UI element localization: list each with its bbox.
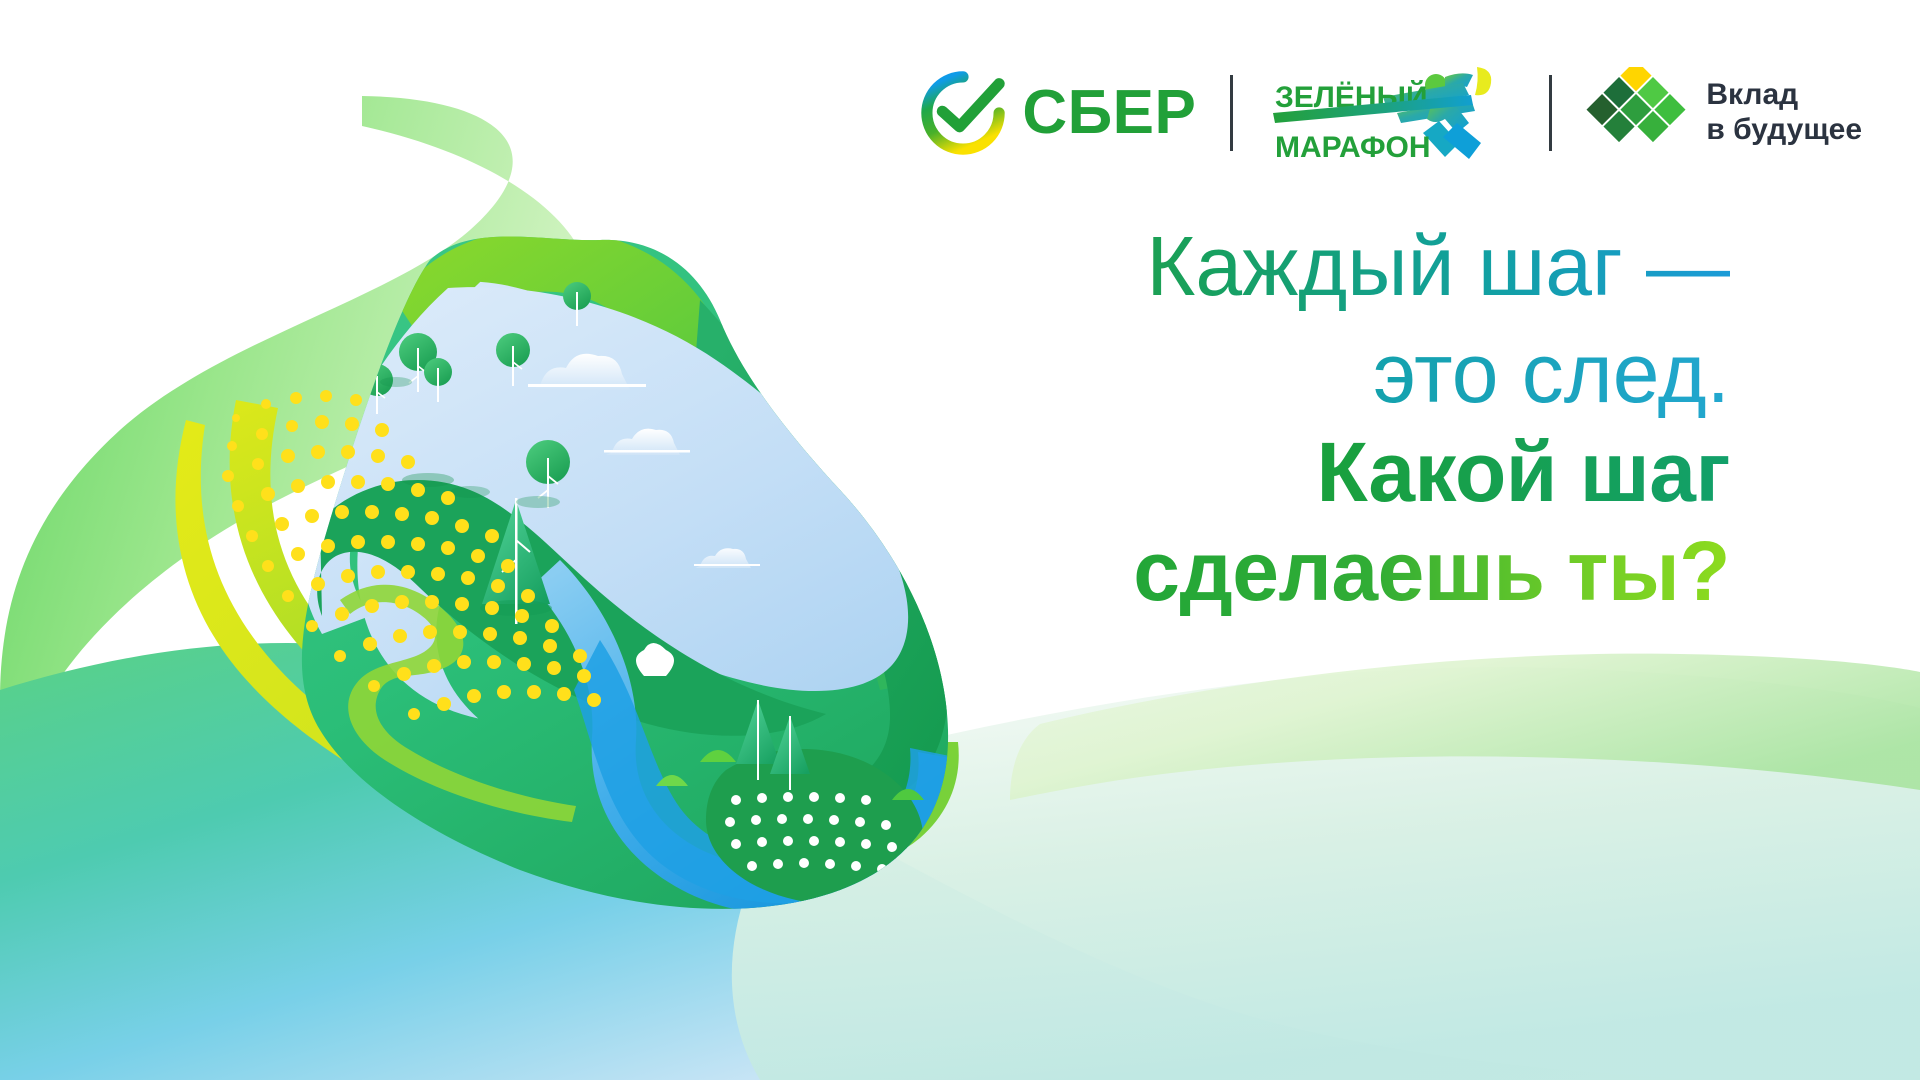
shadow-blob-2 — [450, 486, 490, 498]
green-marathon-line2: МАРАФОН — [1275, 131, 1431, 164]
vklad-logo[interactable]: Вкладв будущее — [1586, 58, 1862, 168]
sber-logo[interactable]: СБЕР — [920, 58, 1196, 168]
green-marathon-logo-icon: ЗЕЛЁНЫЙ МАРАФОН — [1267, 61, 1515, 165]
tree-round-7 — [261, 257, 287, 296]
shadow-blob-3 — [380, 377, 412, 387]
vklad-line1: Вклад — [1706, 78, 1798, 111]
conifer-left — [309, 308, 337, 366]
logo-divider-1 — [1230, 75, 1233, 151]
shadow-blob-1 — [402, 473, 454, 487]
sber-check-circle-icon — [920, 70, 1006, 156]
logo-bar: СБЕР — [920, 58, 1862, 168]
vklad-diamond-icon — [1586, 67, 1686, 159]
logo-divider-2 — [1549, 75, 1552, 151]
vklad-wordmark: Вкладв будущее — [1706, 78, 1862, 148]
sber-wordmark: СБЕР — [1022, 82, 1196, 144]
shadow-blob-4 — [516, 496, 560, 508]
headline-line-2: это след. — [940, 329, 1730, 418]
green-marathon-logo[interactable]: ЗЕЛЁНЫЙ МАРАФОН — [1267, 58, 1515, 168]
poster-root: СБЕР — [0, 0, 1920, 1080]
headline-block: Каждый шаг — это след. Какой шаг сделаеш… — [940, 222, 1730, 616]
headline-line-1: Каждый шаг — — [940, 222, 1730, 311]
vklad-line2: в будущее — [1706, 113, 1862, 146]
headline-line-3: Какой шаг — [940, 428, 1730, 517]
headline-line-4: сделаешь ты? — [940, 527, 1730, 616]
